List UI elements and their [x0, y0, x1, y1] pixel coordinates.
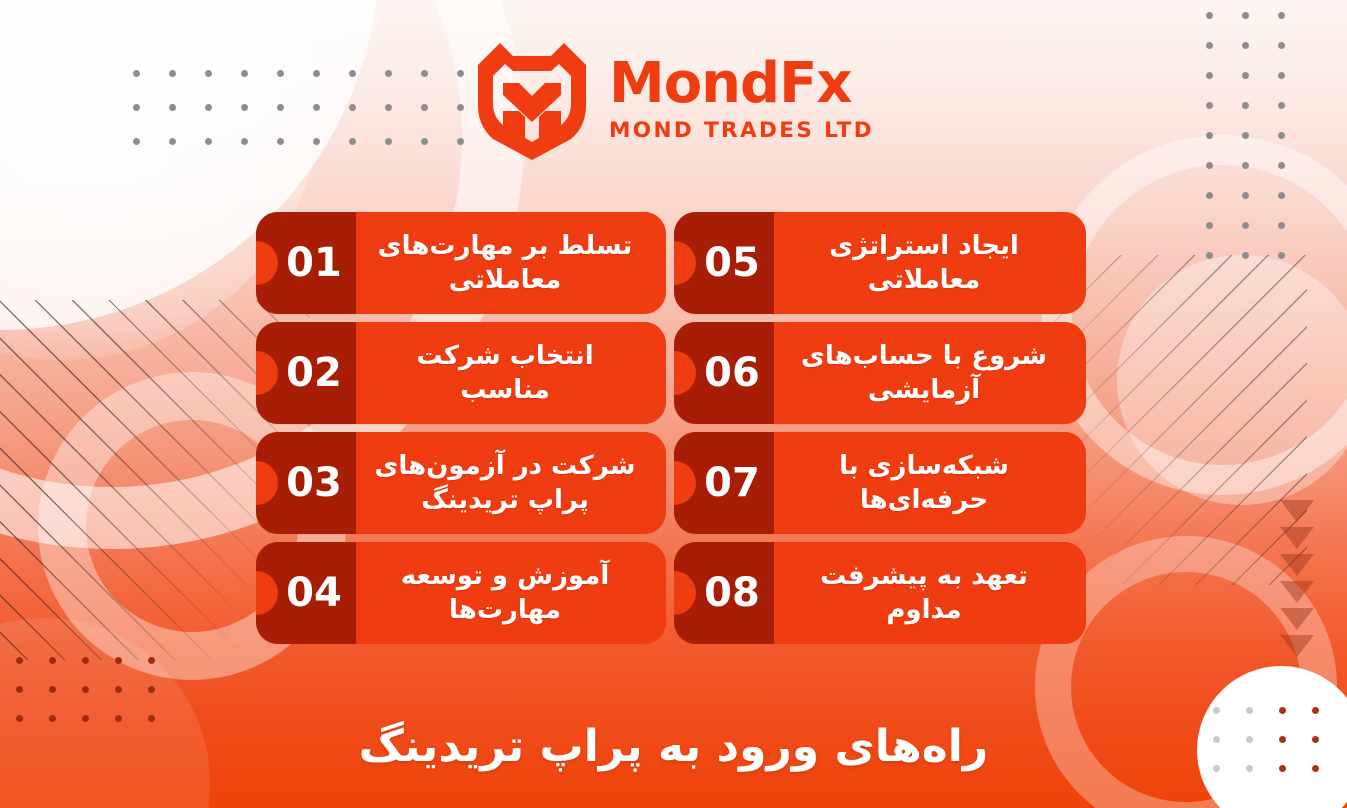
- step-body: شبکه‌سازی با حرفه‌ای‌ها: [774, 432, 1086, 534]
- step-number: 02: [270, 350, 342, 396]
- step-number-block: 05: [674, 212, 774, 314]
- infographic-poster: MondFx MOND TRADES LTD 01تسلط بر مهارت‌ه…: [0, 0, 1347, 808]
- step-body: شرکت در آزمون‌های پراپ تریدینگ: [356, 432, 666, 534]
- step-number: 05: [688, 240, 760, 286]
- step-number-block: 08: [674, 542, 774, 644]
- step-body: ایجاد استراتژی معاملاتی: [774, 212, 1086, 314]
- step-number: 08: [688, 570, 760, 616]
- step-title: آموزش و توسعه مهارت‌ها: [370, 559, 640, 628]
- step-card[interactable]: 01تسلط بر مهارت‌های معاملاتی: [256, 212, 666, 314]
- down-arrow-icon: [1280, 635, 1314, 657]
- step-body: انتخاب شرکت مناسب: [356, 322, 666, 424]
- step-number-block: 01: [256, 212, 356, 314]
- step-title: انتخاب شرکت مناسب: [370, 339, 640, 408]
- brand-name: MondFx: [609, 56, 852, 112]
- dot-grid-bottom-left: [16, 657, 155, 722]
- down-arrow-stack: [1280, 500, 1314, 657]
- down-arrow-icon: [1280, 554, 1314, 576]
- step-body: تسلط بر مهارت‌های معاملاتی: [356, 212, 666, 314]
- step-body: تعهد به پیشرفت مداوم: [774, 542, 1086, 644]
- step-number: 04: [270, 570, 342, 616]
- step-card[interactable]: 03شرکت در آزمون‌های پراپ تریدینگ: [256, 432, 666, 534]
- step-card[interactable]: 04آموزش و توسعه مهارت‌ها: [256, 542, 666, 644]
- step-title: شبکه‌سازی با حرفه‌ای‌ها: [788, 449, 1060, 518]
- step-title: تسلط بر مهارت‌های معاملاتی: [370, 229, 640, 298]
- step-number-block: 02: [256, 322, 356, 424]
- step-title: شروع با حساب‌های آزمایشی: [788, 339, 1060, 408]
- page-title: راه‌های ورود به پراپ تریدینگ: [0, 719, 1347, 774]
- step-number: 01: [270, 240, 342, 286]
- step-card[interactable]: 07شبکه‌سازی با حرفه‌ای‌ها: [674, 432, 1086, 534]
- step-body: آموزش و توسعه مهارت‌ها: [356, 542, 666, 644]
- down-arrow-icon: [1280, 608, 1314, 630]
- down-arrow-icon: [1280, 527, 1314, 549]
- shield-chevron-logo-icon: [473, 38, 591, 160]
- step-number-block: 06: [674, 322, 774, 424]
- brand-logo: MondFx MOND TRADES LTD: [0, 38, 1347, 160]
- step-number-block: 03: [256, 432, 356, 534]
- step-card[interactable]: 08تعهد به پیشرفت مداوم: [674, 542, 1086, 644]
- step-title: شرکت در آزمون‌های پراپ تریدینگ: [370, 449, 640, 518]
- step-number: 03: [270, 460, 342, 506]
- steps-card-grid: 01تسلط بر مهارت‌های معاملاتی05ایجاد استر…: [256, 212, 1086, 644]
- down-arrow-icon: [1280, 581, 1314, 603]
- step-body: شروع با حساب‌های آزمایشی: [774, 322, 1086, 424]
- step-card[interactable]: 02انتخاب شرکت مناسب: [256, 322, 666, 424]
- step-title: تعهد به پیشرفت مداوم: [788, 559, 1060, 628]
- step-number: 06: [688, 350, 760, 396]
- step-card[interactable]: 06شروع با حساب‌های آزمایشی: [674, 322, 1086, 424]
- step-card[interactable]: 05ایجاد استراتژی معاملاتی: [674, 212, 1086, 314]
- step-number-block: 07: [674, 432, 774, 534]
- step-number: 07: [688, 460, 760, 506]
- down-arrow-icon: [1280, 500, 1314, 522]
- step-title: ایجاد استراتژی معاملاتی: [788, 229, 1060, 298]
- step-number-block: 04: [256, 542, 356, 644]
- brand-tagline: MOND TRADES LTD: [609, 120, 874, 142]
